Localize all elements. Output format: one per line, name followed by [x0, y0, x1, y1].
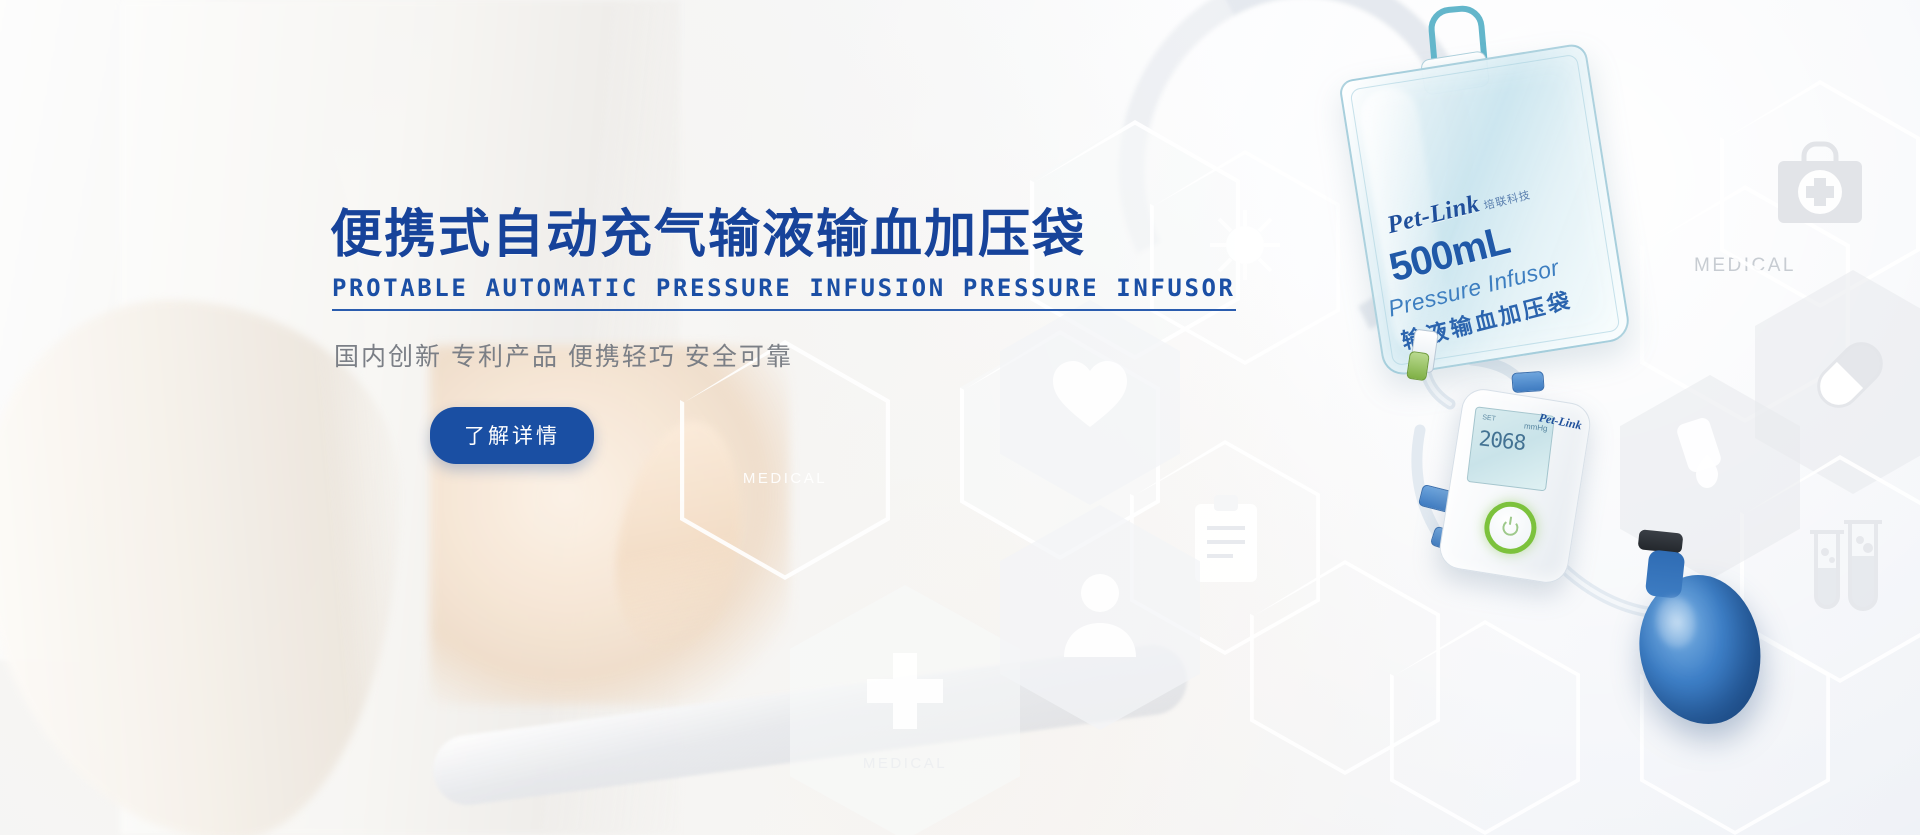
- product-imagery: Pet-Link培联科技 500mL Pressure Infusor 输液输血…: [1120, 0, 1920, 835]
- lcd-value: 2068: [1478, 426, 1527, 455]
- page-tagline: 国内创新 专利产品 便携轻巧 安全可靠: [334, 337, 1030, 373]
- hero-banner: MEDICAL MEDICAL: [0, 0, 1920, 835]
- page-title: 便携式自动充气输液输血加压袋: [330, 206, 1030, 264]
- pump-highlight: [1652, 594, 1699, 651]
- pump-neck: [1645, 549, 1686, 599]
- pressure-infusion-bag: Pet-Link培联科技 500mL Pressure Infusor 输液输血…: [1338, 42, 1632, 377]
- hero-copy: 便携式自动充气输液输血加压袋 PROTABLE AUTOMATIC PRESSU…: [330, 206, 1030, 464]
- power-button[interactable]: [1481, 498, 1540, 557]
- learn-more-button[interactable]: 了解详情: [430, 407, 594, 464]
- tube-connector-green: [1406, 351, 1430, 382]
- tube-connector-blue-1: [1511, 371, 1544, 393]
- lcd-label: SET: [1482, 414, 1496, 423]
- page-subtitle: PROTABLE AUTOMATIC PRESSURE INFUSION PRE…: [332, 274, 1236, 311]
